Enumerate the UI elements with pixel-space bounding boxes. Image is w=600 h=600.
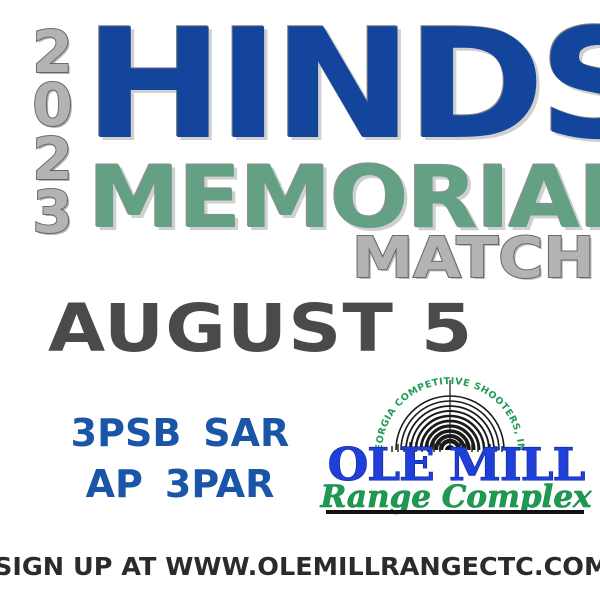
discipline-row-1: 3PSBSAR xyxy=(52,408,308,459)
ole-mill-logo: GEORGIA COMPETITIVE SHOOTERS, INC OLE MI… xyxy=(310,372,596,514)
discipline-3par: 3PAR xyxy=(165,462,274,506)
event-date: AUGUST 5 xyxy=(48,296,473,362)
discipline-sar: SAR xyxy=(203,411,289,455)
event-flyer: 2 0 2 3 HINDS MEMORIAL MATCH AUGUST 5 3P… xyxy=(0,0,600,600)
discipline-list: 3PSBSAR AP3PAR xyxy=(52,408,308,511)
discipline-row-2: AP3PAR xyxy=(52,459,308,510)
year-digit-4: 3 xyxy=(32,186,71,239)
discipline-3psb: 3PSB xyxy=(71,411,182,455)
discipline-ap: AP xyxy=(86,462,143,506)
logo-underline-rule xyxy=(326,510,584,514)
title-hinds: HINDS xyxy=(84,18,600,152)
logo-name-range-complex: Range Complex xyxy=(314,482,598,513)
year-stack: 2 0 2 3 xyxy=(20,26,84,239)
title-match: MATCH xyxy=(352,234,595,284)
signup-url-text: SIGN UP AT WWW.OLEMILLRANGECTC.COM xyxy=(0,554,600,579)
